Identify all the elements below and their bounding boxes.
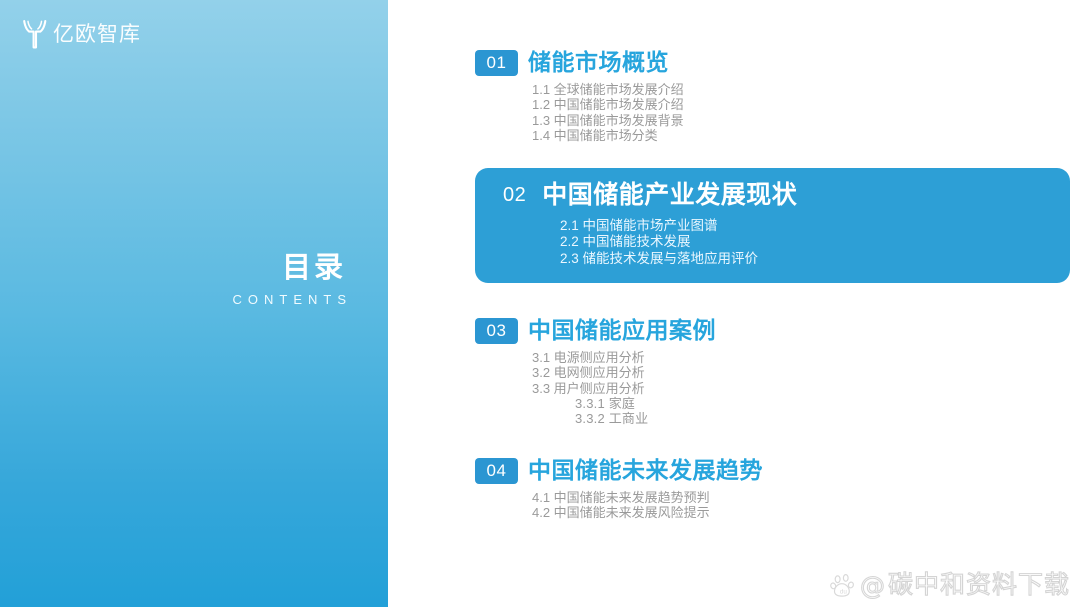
watermark-at-symbol: @ xyxy=(860,573,885,598)
toc-subitem[interactable]: 1.2 中国储能市场发展介绍 xyxy=(532,97,1080,112)
toc-section-title: 储能市场概览 xyxy=(528,50,669,75)
brand-name: 亿欧智库 xyxy=(53,24,141,45)
toc-section-header[interactable]: 02中国储能产业发展现状 xyxy=(475,182,1070,210)
toc-right-panel: 01储能市场概览1.1 全球储能市场发展介绍1.2 中国储能市场发展介绍1.3 … xyxy=(388,0,1080,607)
toc-section-header[interactable]: 03中国储能应用案例 xyxy=(388,318,1080,344)
toc-section-number-badge: 03 xyxy=(475,318,518,344)
toc-section-card: 03中国储能应用案例3.1 电源侧应用分析3.2 电网侧应用分析3.3 用户侧应… xyxy=(388,308,1080,436)
toc-subitem-list: 1.1 全球储能市场发展介绍1.2 中国储能市场发展介绍1.3 中国储能市场发展… xyxy=(388,82,1080,143)
toc-subitem[interactable]: 3.3.2 工商业 xyxy=(532,411,1080,426)
toc-subitem[interactable]: 4.1 中国储能未来发展趋势预判 xyxy=(532,490,1080,505)
contents-title-cn: 目录 xyxy=(233,252,347,285)
toc-subitem[interactable]: 3.3.1 家庭 xyxy=(532,396,1080,411)
toc-section-title: 中国储能产业发展现状 xyxy=(542,182,797,210)
toc-section-02[interactable]: 02中国储能产业发展现状2.1 中国储能市场产业图谱2.2 中国储能技术发展2.… xyxy=(388,168,1080,283)
toc-subitem[interactable]: 2.2 中国储能技术发展 xyxy=(560,234,1070,251)
yi-ou-logo-icon xyxy=(22,19,48,49)
toc-section-number-badge: 04 xyxy=(475,458,518,484)
svg-text:du: du xyxy=(840,589,848,596)
toc-subitem-list: 3.1 电源侧应用分析3.2 电网侧应用分析3.3 用户侧应用分析3.3.1 家… xyxy=(388,350,1080,426)
toc-subitem[interactable]: 4.2 中国储能未来发展风险提示 xyxy=(532,505,1080,520)
toc-subitem[interactable]: 1.1 全球储能市场发展介绍 xyxy=(532,82,1080,97)
toc-section-number-badge: 01 xyxy=(475,50,518,76)
toc-subitem[interactable]: 3.3 用户侧应用分析 xyxy=(532,381,1080,396)
toc-section-card: 02中国储能产业发展现状2.1 中国储能市场产业图谱2.2 中国储能技术发展2.… xyxy=(475,168,1070,283)
contents-heading-block: 目录 CONTENTS xyxy=(233,252,347,308)
baidu-paw-icon: du xyxy=(830,572,857,599)
toc-section-number-badge: 02 xyxy=(503,184,526,207)
toc-section-title: 中国储能应用案例 xyxy=(528,318,716,343)
toc-section-card: 01储能市场概览1.1 全球储能市场发展介绍1.2 中国储能市场发展介绍1.3 … xyxy=(388,40,1080,153)
contents-title-en: CONTENTS xyxy=(233,293,353,307)
toc-subitem[interactable]: 2.3 储能技术发展与落地应用评价 xyxy=(560,251,1070,268)
toc-subitem[interactable]: 3.2 电网侧应用分析 xyxy=(532,365,1080,380)
toc-section-header[interactable]: 04中国储能未来发展趋势 xyxy=(388,458,1080,484)
toc-section-04[interactable]: 04中国储能未来发展趋势4.1 中国储能未来发展趋势预判4.2 中国储能未来发展… xyxy=(388,448,1080,531)
toc-section-03[interactable]: 03中国储能应用案例3.1 电源侧应用分析3.2 电网侧应用分析3.3 用户侧应… xyxy=(388,308,1080,436)
toc-subitem-list: 4.1 中国储能未来发展趋势预判4.2 中国储能未来发展风险提示 xyxy=(388,490,1080,521)
watermark-text: 碳中和资料下载 xyxy=(888,573,1070,598)
toc-section-card: 04中国储能未来发展趋势4.1 中国储能未来发展趋势预判4.2 中国储能未来发展… xyxy=(388,448,1080,531)
toc-section-01[interactable]: 01储能市场概览1.1 全球储能市场发展介绍1.2 中国储能市场发展介绍1.3 … xyxy=(388,40,1080,153)
cover-left-panel: 亿欧智库 目录 CONTENTS xyxy=(0,0,388,607)
toc-subitem[interactable]: 2.1 中国储能市场产业图谱 xyxy=(560,218,1070,235)
watermark: du @ 碳中和资料下载 xyxy=(830,572,1070,599)
toc-section-title: 中国储能未来发展趋势 xyxy=(528,458,763,483)
toc-subitem-list: 2.1 中国储能市场产业图谱2.2 中国储能技术发展2.3 储能技术发展与落地应… xyxy=(475,218,1070,268)
toc-subitem[interactable]: 1.4 中国储能市场分类 xyxy=(532,128,1080,143)
toc-section-header[interactable]: 01储能市场概览 xyxy=(388,50,1080,76)
toc-subitem[interactable]: 3.1 电源侧应用分析 xyxy=(532,350,1080,365)
toc-subitem[interactable]: 1.3 中国储能市场发展背景 xyxy=(532,113,1080,128)
brand-logo: 亿欧智库 xyxy=(22,19,141,49)
